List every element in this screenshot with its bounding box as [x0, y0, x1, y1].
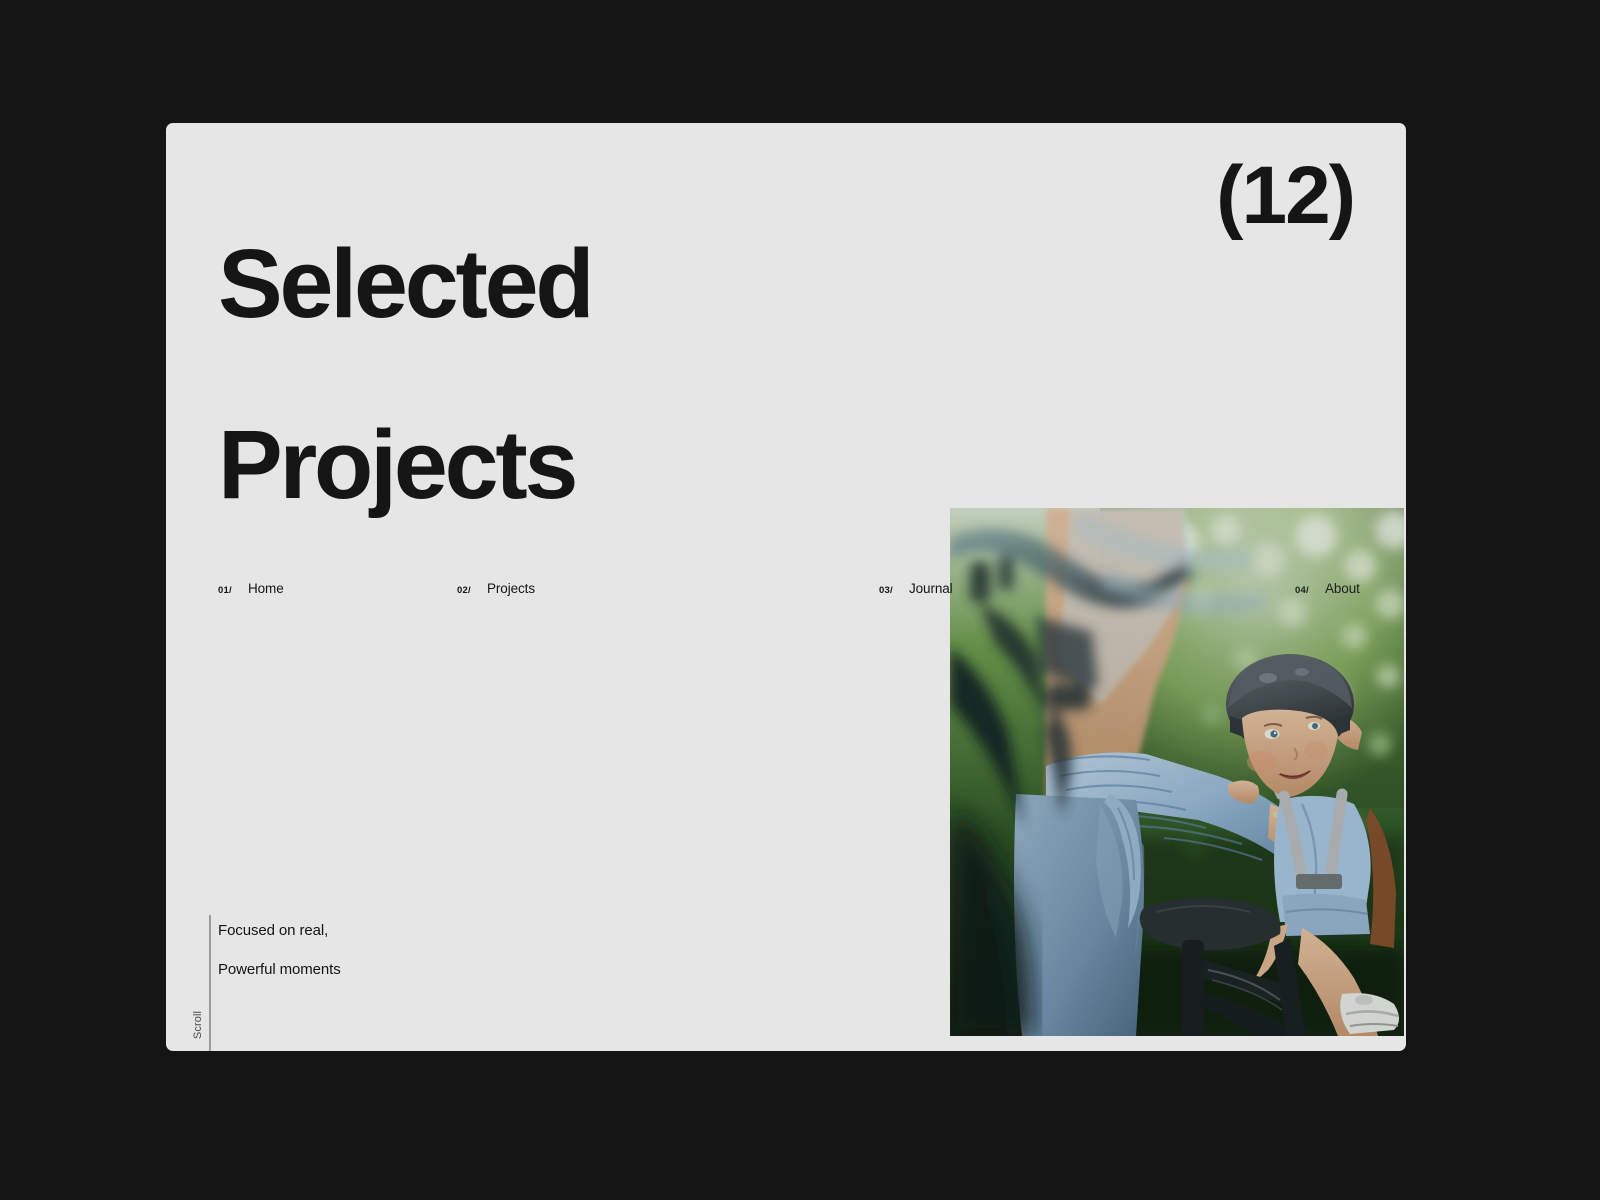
nav-label: Projects — [487, 581, 535, 596]
page-root: Selected Projects (12) 01/ Home 02/ Proj… — [0, 0, 1600, 1200]
page-title: Selected Projects — [218, 149, 591, 600]
nav-label: About — [1325, 581, 1360, 596]
main-navigation: 01/ Home 02/ Projects 03/ Journal 04/ Ab… — [166, 581, 1406, 603]
hero-card: Selected Projects (12) 01/ Home 02/ Proj… — [166, 123, 1406, 1051]
footer-tagline: Focused on real, Powerful moments — [218, 902, 341, 998]
footer-tagline-line-2: Powerful moments — [218, 960, 341, 979]
nav-number: 03/ — [879, 585, 909, 596]
scroll-label: Scroll — [192, 995, 204, 1051]
nav-number: 02/ — [457, 585, 487, 596]
scroll-indicator[interactable]: Scroll — [181, 915, 221, 1051]
nav-item-journal[interactable]: 03/ Journal — [879, 581, 953, 596]
footer-tagline-line-1: Focused on real, — [218, 921, 341, 940]
nav-number: 04/ — [1295, 585, 1325, 596]
nav-item-projects[interactable]: 02/ Projects — [457, 581, 535, 596]
page-title-line-1: Selected — [218, 239, 591, 329]
scroll-divider-line — [209, 915, 211, 1051]
nav-item-about[interactable]: 04/ About — [1295, 581, 1360, 596]
nav-label: Journal — [909, 581, 953, 596]
nav-label: Home — [248, 581, 284, 596]
nav-item-home[interactable]: 01/ Home — [218, 581, 284, 596]
page-title-line-2: Projects — [218, 420, 591, 510]
nav-number: 01/ — [218, 585, 248, 596]
project-counter: (12) — [1216, 155, 1354, 237]
